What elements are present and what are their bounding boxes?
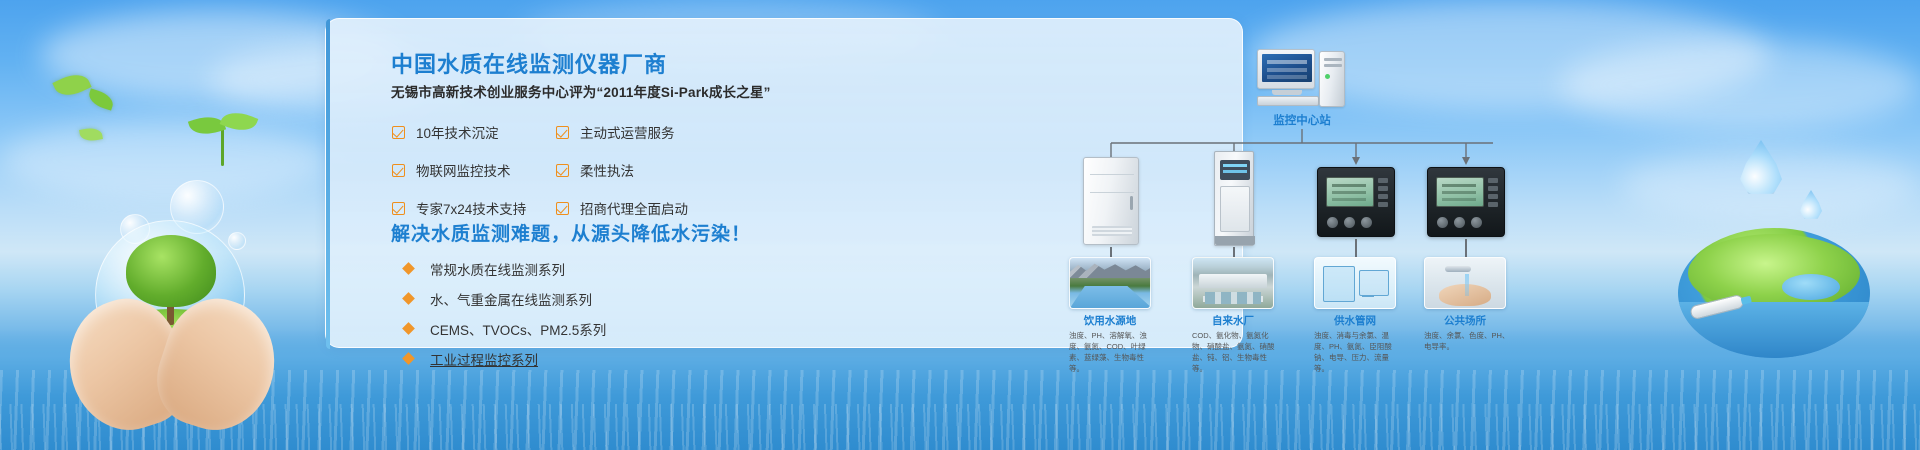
sprout-icon: [188, 108, 258, 168]
product-line-label: 水、气重金属在线监测系列: [430, 289, 592, 309]
cabinet-seam: [1090, 174, 1134, 175]
scenario-card[interactable]: 供水管网 浊度、消毒与余氯、温度、PH、氨氮、臣阻酸钠、电导、压力、流量等。: [1314, 257, 1396, 375]
section-title: 解决水质监测难题，从源头降低水污染！: [391, 219, 751, 246]
cabinet-handle: [1130, 196, 1133, 210]
product-line-item[interactable]: CEMS、TVOCs、PM2.5系列: [404, 317, 606, 340]
hand-right: [145, 286, 292, 444]
product-line-item[interactable]: 常规水质在线监测系列: [404, 257, 606, 280]
device-tall-cabinet-analyzer[interactable]: [1214, 151, 1254, 246]
monitor-screen: [1262, 54, 1312, 82]
device-display-panel: [1220, 160, 1250, 180]
scenario-card[interactable]: 饮用水源地 浊度、PH、溶解氧、浊度、氨氮、COD、叶绿素、蓝绿藻、生物毒性等。: [1069, 257, 1151, 375]
scenario-description: COD、氨化物、氨氮化物、硝酸盐、氨氮、硝酸盐、钝、铝、生物毒性等。: [1192, 331, 1278, 375]
keyboard-icon: [1257, 96, 1319, 106]
leaf-icon: [86, 88, 115, 110]
product-line-item[interactable]: 水、气重金属在线监测系列: [404, 287, 606, 310]
sprout-leaf: [220, 106, 259, 136]
feature-list-right: 主动式运营服务 柔性执法 招商代理全面启动: [556, 119, 886, 233]
leaf-icon: [52, 69, 91, 101]
diamond-bullet-icon: [402, 262, 415, 275]
checkbox-checked-icon: [392, 164, 405, 177]
device-side-keys[interactable]: [1378, 178, 1390, 206]
sea-shimmer-secondary: [0, 404, 1920, 450]
feature-label: 柔性执法: [580, 160, 634, 180]
card-accent-bar: [326, 19, 330, 349]
device-base: [1215, 236, 1255, 245]
device-door: [1220, 186, 1250, 232]
page-subtitle: 无锡市高新技术创业服务中心评为“2011年度Si-Park成长之星”: [391, 81, 771, 101]
feature-label: 主动式运营服务: [580, 122, 675, 142]
device-lcd-screen: [1436, 177, 1484, 207]
page-title: 中国水质在线监测仪器厂商: [391, 47, 667, 79]
checkbox-checked-icon: [392, 126, 405, 139]
checkbox-checked-icon: [556, 164, 569, 177]
checkbox-checked-icon: [392, 202, 405, 215]
product-line-list: 常规水质在线监测系列 水、气重金属在线监测系列 CEMS、TVOCs、PM2.5…: [404, 257, 606, 377]
content-card: 中国水质在线监测仪器厂商 无锡市高新技术创业服务中心评为“2011年度Si-Pa…: [325, 18, 1243, 348]
scenario-photo-waterworks: [1192, 257, 1274, 309]
water-droplet-icon: [1740, 140, 1782, 196]
product-line-label: CEMS、TVOCs、PM2.5系列: [430, 319, 606, 339]
leaf-icon: [79, 126, 103, 143]
checkbox-checked-icon: [556, 126, 569, 139]
monitor-icon: [1257, 49, 1315, 89]
scenario-photo-public-place: [1424, 257, 1506, 309]
tower-drive-slot: [1324, 58, 1342, 61]
feature-label: 10年技术沉淀: [416, 122, 499, 142]
device-panel-controller-1[interactable]: [1317, 167, 1395, 237]
feature-label: 专家7x24技术支持: [416, 198, 526, 218]
scenario-title: 公共场所: [1424, 313, 1506, 328]
product-line-label: 常规水质在线监测系列: [430, 259, 565, 279]
diamond-bullet-icon: [402, 352, 415, 365]
device-side-keys[interactable]: [1488, 178, 1500, 206]
monitor-base: [1272, 90, 1302, 95]
scenario-photo-drinking-water-source: [1069, 257, 1151, 309]
cabinet-seam: [1090, 192, 1134, 193]
hand-silhouette: [1439, 284, 1491, 306]
scenario-description: 浊度、PH、溶解氧、浊度、氨氮、COD、叶绿素、蓝绿藻、生物毒性等。: [1069, 331, 1155, 375]
scenario-photo-water-supply-network: [1314, 257, 1396, 309]
feature-item[interactable]: 招商代理全面启动: [556, 195, 886, 221]
tower-drive-slot: [1324, 64, 1342, 67]
feature-item[interactable]: 主动式运营服务: [556, 119, 886, 145]
scenario-title: 自来水厂: [1192, 313, 1274, 328]
checkbox-checked-icon: [556, 202, 569, 215]
feature-label: 招商代理全面启动: [580, 198, 688, 218]
scenario-card[interactable]: 公共场所 浊度、余氯、色度、PH、电导率。: [1424, 257, 1506, 353]
device-lcd-screen: [1326, 177, 1374, 207]
system-diagram: 监控中心站: [1071, 39, 1531, 349]
product-line-item[interactable]: 工业过程监控系列: [404, 347, 606, 370]
diamond-bullet-icon: [402, 292, 415, 305]
feature-item[interactable]: 柔性执法: [556, 157, 886, 183]
water-droplet-icon-small: [1800, 190, 1822, 220]
scenario-title: 饮用水源地: [1069, 313, 1151, 328]
device-buttons[interactable]: [1327, 217, 1372, 228]
earth-lake: [1782, 274, 1840, 300]
diamond-bullet-icon: [402, 322, 415, 335]
pc-tower-icon: [1319, 51, 1345, 107]
scenario-description: 浊度、消毒与余氯、温度、PH、氨氮、臣阻酸钠、电导、压力、流量等。: [1314, 331, 1400, 375]
monitoring-center-computer-icon: [1257, 49, 1347, 111]
device-panel-controller-2[interactable]: [1427, 167, 1505, 237]
bubble-decoration: [228, 232, 246, 250]
scenario-title: 供水管网: [1314, 313, 1396, 328]
product-line-label: 工业过程监控系列: [430, 349, 538, 369]
device-buttons[interactable]: [1437, 217, 1482, 228]
cloud-decoration: [0, 120, 330, 200]
cloud-decoration: [1560, 40, 1920, 130]
tower-power-led: [1325, 74, 1330, 79]
cabinet-vent: [1092, 226, 1132, 236]
scenario-card[interactable]: 自来水厂 COD、氨化物、氨氮化物、硝酸盐、氨氮、硝酸盐、钝、铝、生物毒性等。: [1192, 257, 1274, 375]
scenario-description: 浊度、余氯、色度、PH、电导率。: [1424, 331, 1510, 353]
hands-illustration: [70, 290, 280, 450]
device-cabinet-analyzer[interactable]: [1083, 157, 1139, 245]
diagram-center-label: 监控中心站: [1247, 112, 1357, 128]
feature-label: 物联网监控技术: [416, 160, 511, 180]
earth-illustration: [1678, 228, 1870, 358]
